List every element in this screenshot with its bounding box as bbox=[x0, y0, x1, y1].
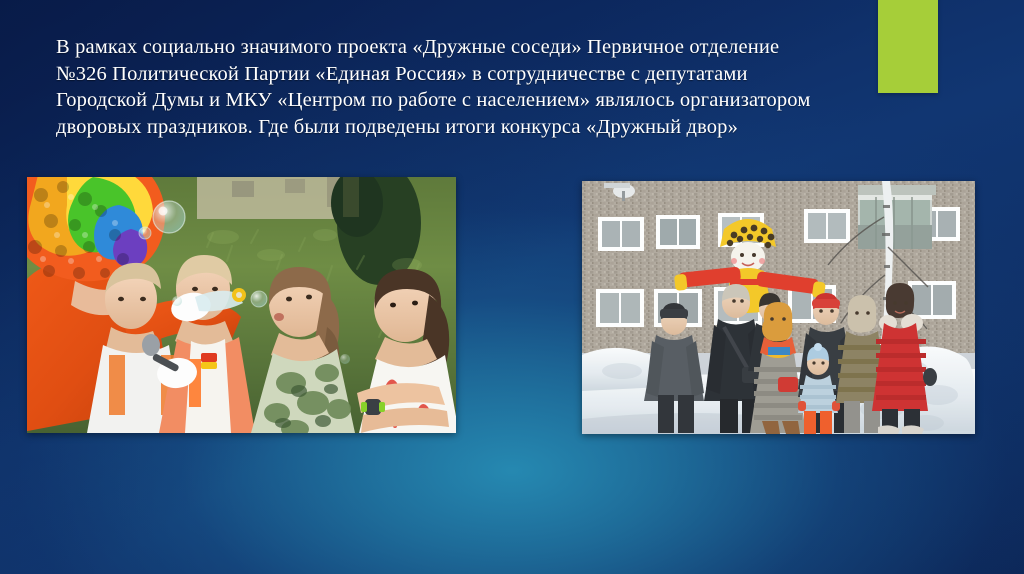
body-text-line-1: В рамках социально значимого проекта «Др… bbox=[56, 34, 856, 61]
slide-body-text: В рамках социально значимого проекта «Др… bbox=[56, 34, 856, 140]
clown-with-children-photo: Клоун в рыжем костюме и радужном парике … bbox=[27, 177, 456, 433]
neighbours-group-winter-photo: Группа жителей у пятиэтажного дома зимой… bbox=[582, 181, 975, 434]
winter-group-photo-graphic bbox=[582, 181, 975, 434]
green-accent-bar bbox=[878, 0, 938, 93]
presentation-slide: В рамках социально значимого проекта «Др… bbox=[0, 0, 1024, 574]
clown-photo-graphic bbox=[27, 177, 456, 433]
body-text-line-3: Городской Думы и МКУ «Центром по работе … bbox=[56, 87, 856, 114]
body-text-line-2: №326 Политической Партии «Единая Россия»… bbox=[56, 61, 856, 88]
body-text-line-4: дворовых праздников. Где были подведены … bbox=[56, 114, 856, 141]
